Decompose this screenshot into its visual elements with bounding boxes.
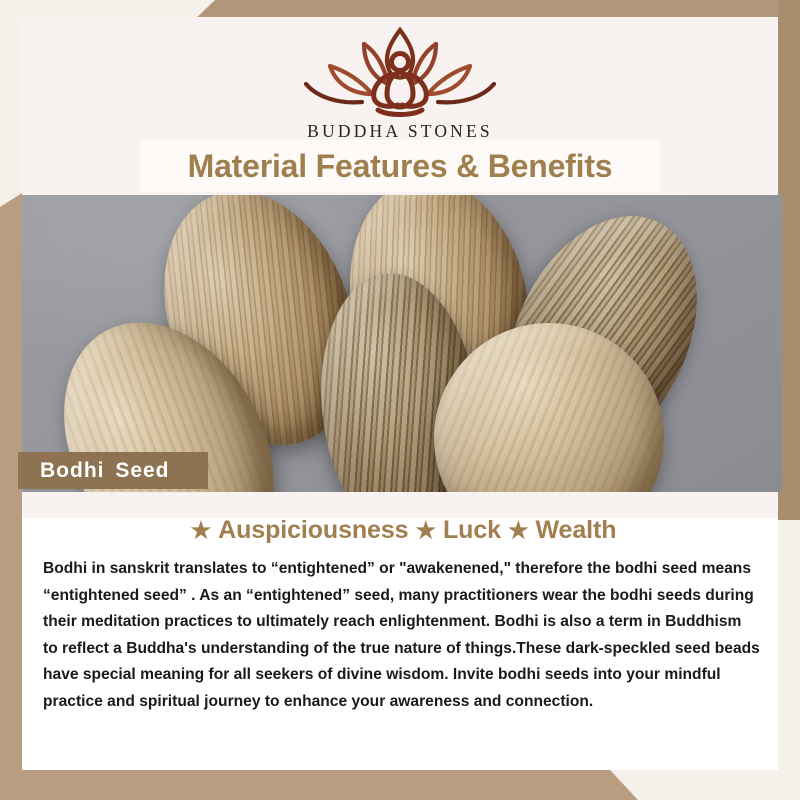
seed-name-tab: Bodhi Seed [18, 452, 208, 489]
seed-name-label: Bodhi Seed [40, 459, 170, 483]
frame-left-band [0, 193, 22, 800]
benefit-wealth: Wealth [535, 516, 616, 545]
star-icon: ★ [415, 519, 436, 542]
content-panel: ★ Auspiciousness ★ Luck ★ Wealth Bodhi i… [22, 492, 778, 770]
poster-root: BUDDHA STONES Material Features & Benefi… [0, 0, 800, 800]
star-icon: ★ [191, 519, 212, 542]
description-paragraph: Bodhi in sanskrit translates to “entight… [43, 556, 760, 716]
benefit-luck: Luck [443, 516, 501, 545]
bodhi-seeds-photo [22, 195, 782, 492]
brand-logo: BUDDHA STONES [0, 22, 800, 140]
benefit-auspiciousness: Auspiciousness [218, 516, 408, 545]
lotus-meditation-icon [292, 22, 508, 118]
benefits-headline: ★ Auspiciousness ★ Luck ★ Wealth [22, 512, 778, 548]
brand-wordmark: BUDDHA STONES [307, 121, 493, 142]
page-title: Material Features & Benefits [0, 141, 800, 191]
star-icon: ★ [508, 519, 529, 542]
frame-bottom-band [0, 770, 800, 800]
